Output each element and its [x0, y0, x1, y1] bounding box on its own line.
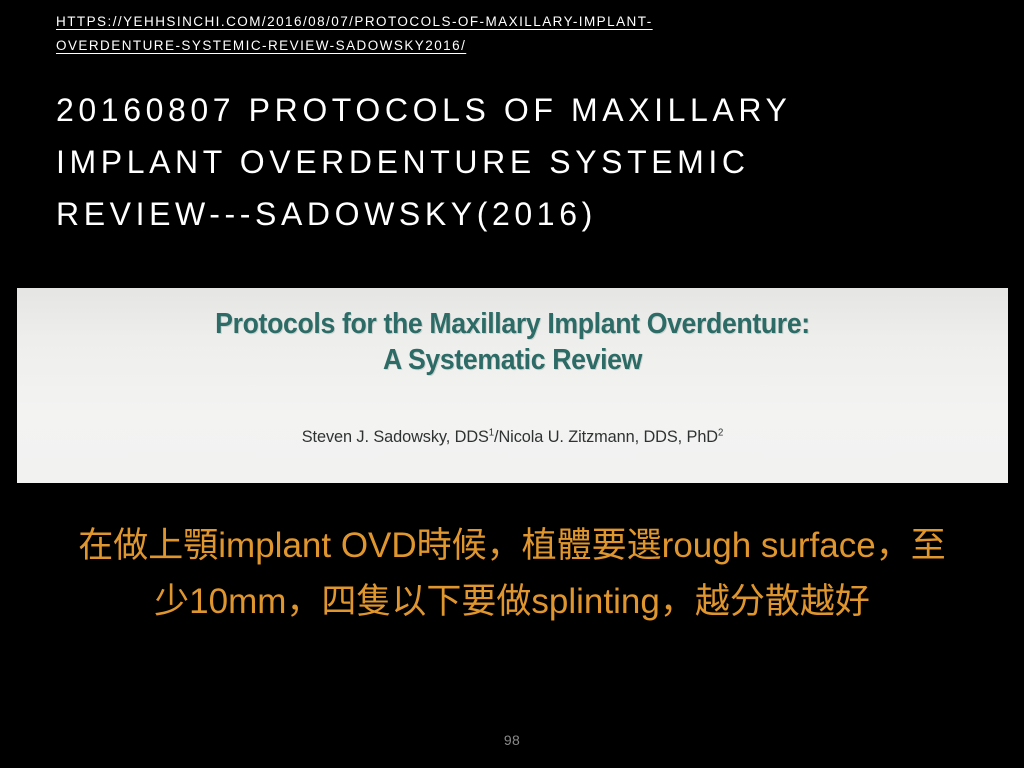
slide-title: 20160807 PROTOCOLS OF MAXILLARY IMPLANT … [56, 84, 986, 240]
annotation-note-line-1: 在做上顎implant OVD時候，植體要選rough surface，至 [14, 518, 1010, 574]
source-url-line-1[interactable]: HTTPS://YEHHSINCHI.COM/2016/08/07/PROTOC… [56, 10, 956, 34]
paper-authors: Steven J. Sadowsky, DDS1/Nicola U. Zitzm… [37, 426, 988, 448]
paper-header-image: Protocols for the Maxillary Implant Over… [17, 288, 1008, 483]
paper-title-line-1: Protocols for the Maxillary Implant Over… [57, 306, 969, 342]
source-url-link[interactable]: HTTPS://YEHHSINCHI.COM/2016/08/07/PROTOC… [56, 10, 956, 58]
paper-author-2-affiliation-marker: 2 [718, 427, 723, 438]
annotation-note: 在做上顎implant OVD時候，植體要選rough surface，至 少1… [14, 518, 1010, 630]
paper-title: Protocols for the Maxillary Implant Over… [57, 306, 969, 378]
paper-author-2: Nicola U. Zitzmann, DDS, PhD [498, 427, 718, 446]
paper-author-1: Steven J. Sadowsky, DDS [302, 427, 489, 446]
presentation-slide: HTTPS://YEHHSINCHI.COM/2016/08/07/PROTOC… [0, 0, 1024, 768]
paper-title-line-2: A Systematic Review [57, 342, 969, 378]
slide-title-line-1: 20160807 PROTOCOLS OF MAXILLARY [56, 84, 986, 136]
source-url-line-2[interactable]: OVERDENTURE-SYSTEMIC-REVIEW-SADOWSKY2016… [56, 34, 956, 58]
slide-title-line-3: REVIEW---SADOWSKY(2016) [56, 188, 986, 240]
annotation-note-line-2: 少10mm，四隻以下要做splinting，越分散越好 [14, 574, 1010, 630]
slide-title-line-2: IMPLANT OVERDENTURE SYSTEMIC [56, 136, 986, 188]
page-number: 98 [0, 732, 1024, 748]
